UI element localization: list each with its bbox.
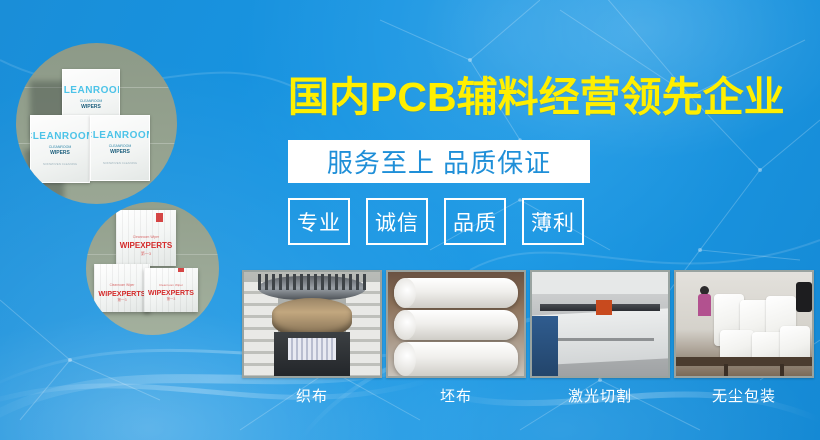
bale-subtitle: Cleanroom Wiper: [144, 284, 198, 287]
pack-brand-label: CLEANROOM: [90, 131, 150, 141]
process-thumbnail-strip: 织布 坯布: [242, 270, 814, 406]
feature-badge-list: 专业 诚信 品质 薄利: [288, 198, 584, 245]
wipe-bale: Cleanroom Wiper WIPEXPERTS 第一3: [144, 268, 198, 312]
bale-brand-label: WIPEXPERTS: [144, 290, 198, 297]
pack-brand-label: CLEANROOM: [30, 132, 90, 142]
bale-brand-label: WIPEXPERTS: [116, 242, 176, 250]
promo-banner: CLEANROOM CLEANROOM WIPERS NONWOVEN CLEA…: [0, 0, 820, 440]
pack-subline-2: WIPERS: [81, 105, 101, 110]
pack-fineprint: NONWOVEN CLEANING: [103, 162, 137, 165]
pack-fineprint: NONWOVEN CLEANING: [43, 163, 77, 166]
fabric-rolls-photo: [386, 270, 526, 378]
badge-low-margin: 薄利: [522, 198, 584, 245]
cleanroom-wipes-photo: CLEANROOM CLEANROOM WIPERS NONWOVEN CLEA…: [16, 43, 177, 204]
bale-subtitle: Cleanroom Wiper: [94, 284, 150, 287]
weaving-photo: [242, 270, 382, 378]
pack-subline-1: CLEANROOM: [109, 145, 132, 149]
badge-integrity: 诚信: [366, 198, 428, 245]
pack-subline-2: WIPERS: [110, 150, 130, 155]
banner-subline-panel: 服务至上 品质保证: [288, 140, 590, 183]
process-thumb-weaving: 织布: [242, 270, 382, 406]
wipe-bale: Cleanroom Wiper WIPEXPERTS 第一3: [94, 264, 150, 312]
thumb-caption: 织布: [242, 385, 382, 406]
process-thumb-laser-cutting: 激光切割: [530, 270, 670, 406]
product-circle-cleanroom: CLEANROOM CLEANROOM WIPERS NONWOVEN CLEA…: [16, 43, 177, 204]
product-circle-wipexperts: Cleanroom Wiper WIPEXPERTS 第一3 Cleanroom…: [86, 202, 219, 335]
bale-brand-label: WIPEXPERTS: [94, 290, 150, 297]
packing-room-photo: [674, 270, 814, 378]
pack-subline-2: WIPERS: [50, 151, 70, 156]
thumb-caption: 无尘包装: [674, 385, 814, 406]
badge-quality: 品质: [444, 198, 506, 245]
pack-brand-label: CLEANROOM: [62, 86, 120, 96]
wipe-bale: Cleanroom Wiper WIPEXPERTS 第一3: [116, 210, 176, 266]
process-thumb-greige-fabric: 坯布: [386, 270, 526, 406]
laser-cutter-photo: [530, 270, 670, 378]
badge-professional: 专业: [288, 198, 350, 245]
pack-subline-1: CLEANROOM: [80, 100, 103, 104]
banner-headline: 国内PCB辅料经营领先企业: [288, 76, 785, 119]
bale-subtitle: Cleanroom Wiper: [116, 236, 176, 239]
banner-subline-text: 服务至上 品质保证: [327, 143, 551, 180]
pack-subline-1: CLEANROOM: [49, 146, 72, 150]
thumb-caption: 激光切割: [530, 385, 670, 406]
thumb-caption: 坯布: [386, 385, 526, 406]
wipexperts-bales-photo: Cleanroom Wiper WIPEXPERTS 第一3 Cleanroom…: [86, 202, 219, 335]
wipe-pack: CLEANROOM CLEANROOM WIPERS NONWOVEN CLEA…: [90, 115, 150, 181]
process-thumb-cleanroom-packing: 无尘包装: [674, 270, 814, 406]
wipe-pack: CLEANROOM CLEANROOM WIPERS NONWOVEN CLEA…: [30, 115, 90, 183]
